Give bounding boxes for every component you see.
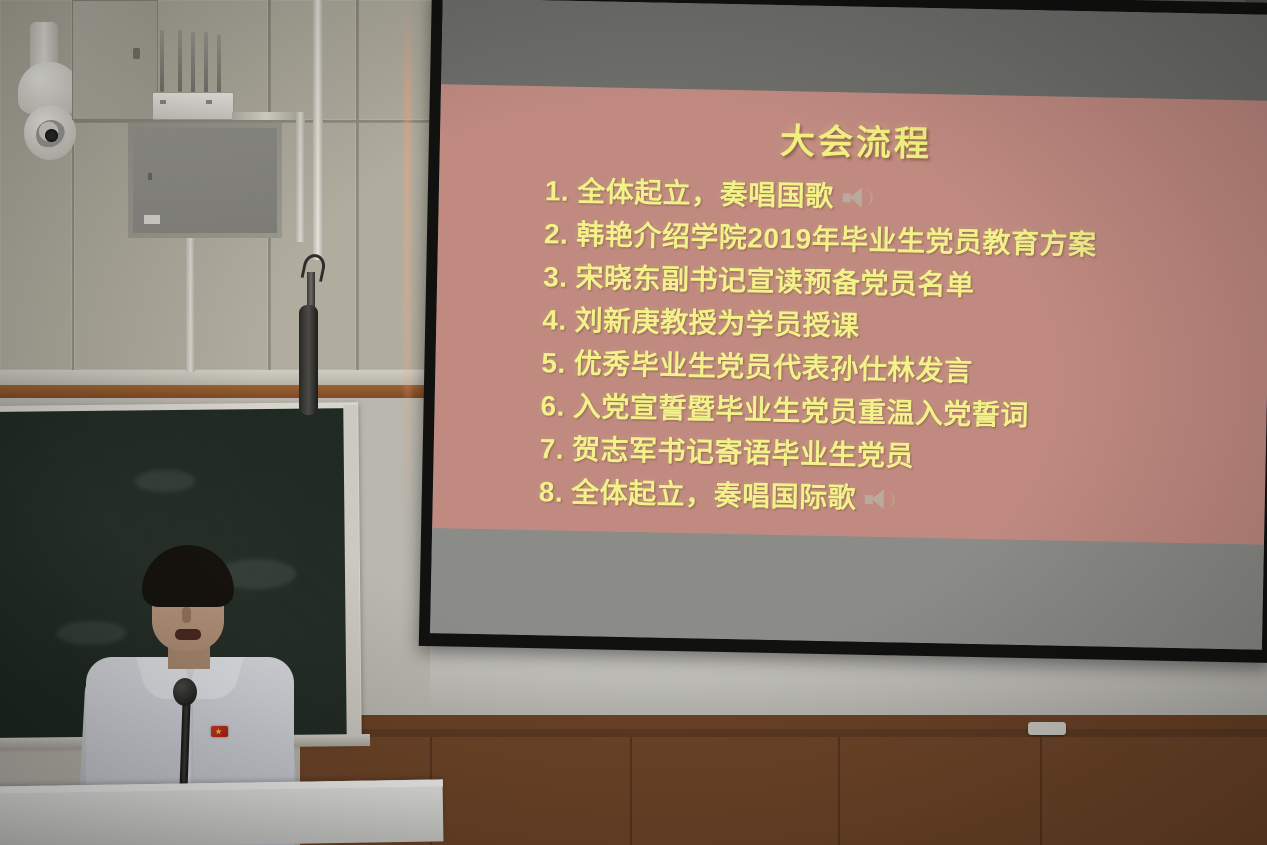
agenda-item-text: 宋晓东副书记宣读预备党员名单 (575, 264, 974, 300)
hanging-microphone (299, 305, 318, 415)
agenda-item-number: 7. (539, 435, 564, 463)
agenda-item: 2. 韩艳介绍学院2019年毕业生党员教育方案 (544, 220, 1267, 263)
wainscot-panel (300, 715, 1267, 845)
wall-rail-white (0, 370, 470, 385)
conduit-pipe (232, 112, 300, 120)
panel-latch-icon (148, 173, 152, 180)
agenda-item: 4. 刘新庚教授为学员授课 (542, 306, 1267, 349)
mouth (175, 629, 201, 640)
wainscot-seam (630, 737, 632, 845)
agenda-item-number: 4. (542, 306, 567, 334)
lock-icon (133, 48, 140, 59)
agenda-item: 5. 优秀毕业生党员代表孙仕林发言 (541, 349, 1267, 392)
agenda-item: 8. 全体起立，奏唱国际歌 (539, 478, 1265, 521)
photo-scene: 大会流程 1. 全体起立，奏唱国歌 2. 韩艳介绍学院2019年毕业生党员教育方… (0, 0, 1267, 845)
nose (182, 607, 191, 623)
signal-jammer (152, 92, 234, 120)
agenda-item-number: 2. (544, 220, 569, 248)
wall-seam (356, 0, 359, 372)
wall-cabinet (72, 0, 158, 120)
presentation-slide: 大会流程 1. 全体起立，奏唱国歌 2. 韩艳介绍学院2019年毕业生党员教育方… (432, 84, 1267, 545)
panel-label (144, 215, 160, 224)
agenda-item-text: 入党宣誓暨毕业生党员重温入党誓词 (573, 393, 1029, 430)
antenna-icon (178, 30, 182, 92)
agenda-item-text: 全体起立，奏唱国际歌 (571, 479, 857, 513)
agenda-item: 1. 全体起立，奏唱国歌 (545, 177, 1267, 220)
antenna-icon (217, 34, 221, 96)
agenda-item-text: 全体起立，奏唱国歌 (577, 178, 834, 211)
projection-screen[interactable]: 大会流程 1. 全体起立，奏唱国歌 2. 韩艳介绍学院2019年毕业生党员教育方… (419, 0, 1267, 663)
wainscot-seam (1040, 737, 1042, 845)
agenda-item-text: 韩艳介绍学院2019年毕业生党员教育方案 (576, 221, 1097, 259)
agenda-item: 6. 入党宣誓暨毕业生党员重温入党誓词 (540, 392, 1266, 435)
agenda-item: 7. 贺志军书记寄语毕业生党员 (539, 435, 1265, 478)
conduit-pipe (296, 112, 305, 242)
agenda-item-number: 6. (540, 392, 565, 420)
agenda-list: 1. 全体起立，奏唱国歌 2. 韩艳介绍学院2019年毕业生党员教育方案 3. … (539, 177, 1267, 521)
podium-microphone (173, 678, 197, 706)
screen-band-bottom (430, 528, 1264, 650)
conduit-pipe (186, 238, 195, 372)
agenda-item-text: 刘新庚教授为学员授课 (574, 307, 860, 341)
agenda-item: 3. 宋晓东副书记宣读预备党员名单 (543, 263, 1267, 306)
wainscot-knob (1028, 722, 1066, 735)
agenda-item-number: 5. (541, 349, 566, 377)
agenda-item-number: 1. (545, 177, 570, 205)
chalk-smudge (135, 470, 195, 493)
slide-title: 大会流程 (440, 106, 1267, 174)
jammer-led-icon (206, 100, 212, 104)
camera-lens-icon (45, 129, 58, 142)
agenda-item-number: 3. (543, 263, 568, 291)
ceiling-mic-pole (313, 0, 323, 260)
wainscot-seam (838, 737, 840, 845)
antenna-icon (191, 32, 195, 94)
speaker-icon (842, 186, 868, 209)
screen-surface: 大会流程 1. 全体起立，奏唱国歌 2. 韩艳介绍学院2019年毕业生党员教育方… (430, 0, 1267, 650)
agenda-item-text: 优秀毕业生党员代表孙仕林发言 (574, 350, 973, 386)
antenna-icon (160, 30, 164, 92)
hair (142, 545, 234, 607)
antenna-icon (204, 32, 208, 94)
jammer-led-icon (160, 100, 166, 104)
speaker-icon (865, 488, 891, 511)
agenda-item-text: 贺志军书记寄语毕业生党员 (572, 436, 915, 471)
wall-rail-orange (0, 385, 470, 398)
agenda-item-number: 8. (539, 478, 564, 506)
